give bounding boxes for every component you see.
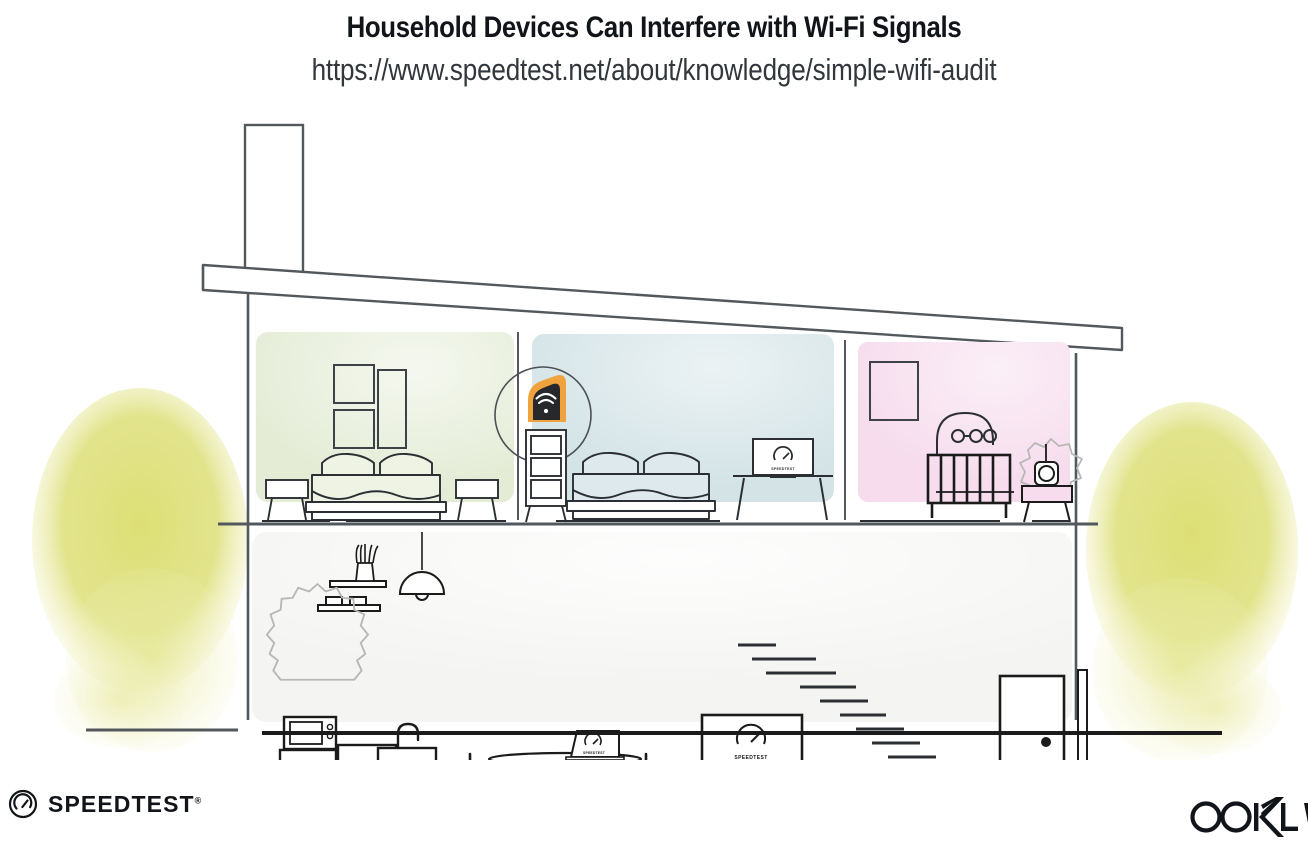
ookla-logo: ™: [1186, 793, 1308, 844]
ookla-k-glyph: [1254, 797, 1284, 837]
wall-shelf-upper: [330, 581, 386, 587]
footer: SPEEDTEST®: [0, 771, 1308, 861]
page-title: Household Devices Can Interfere with Wi-…: [92, 0, 1217, 45]
pillow-right: [644, 453, 699, 476]
bed-frame: [573, 511, 709, 519]
dresser: [526, 430, 566, 522]
window: [1078, 670, 1087, 760]
laptop-caption: SPEEDTEST: [583, 751, 606, 755]
monitor[interactable]: SPEEDTEST: [753, 439, 813, 478]
front-door[interactable]: [1000, 676, 1064, 760]
bed-frame: [312, 512, 440, 520]
speedtest-wordmark: SPEEDTEST®: [48, 791, 201, 818]
tree-right: [1086, 402, 1298, 760]
bed-base: [306, 502, 446, 512]
laptop[interactable]: SPEEDTEST: [566, 731, 624, 760]
registered-mark: ®: [195, 795, 202, 805]
speedtest-logo: SPEEDTEST®: [8, 789, 201, 819]
nursery-side-table: [1022, 486, 1072, 522]
wifi-dot-icon: [544, 409, 548, 413]
source-url: https://www.speedtest.net/about/knowledg…: [105, 45, 1204, 88]
speedtest-gauge-icon: [8, 789, 38, 819]
pillow-left: [583, 453, 638, 476]
ookla-la-glyph: [1281, 803, 1308, 831]
speedtest-wordmark-text: SPEEDTEST: [48, 791, 195, 817]
header: Household Devices Can Interfere with Wi-…: [0, 0, 1308, 89]
chimney: [245, 125, 303, 275]
counter-top-left: [280, 750, 336, 760]
faucet: [398, 724, 418, 748]
ookla-wordmark: ™: [1186, 793, 1308, 839]
bed-base: [567, 501, 715, 511]
pillow-left: [322, 454, 374, 477]
illustration-page: Household Devices Can Interfere with Wi-…: [0, 0, 1308, 861]
pillow-right: [380, 454, 432, 477]
monitor-caption: SPEEDTEST: [771, 467, 795, 471]
television[interactable]: SPEEDTEST: [702, 715, 802, 760]
house-illustration: SPEEDTEST: [0, 100, 1308, 760]
tv-caption: SPEEDTEST: [734, 755, 767, 760]
room-living-kitchen: [252, 532, 1072, 722]
counter-top-right: [378, 748, 436, 760]
laptop-base: [566, 757, 624, 760]
monitor-stand: [770, 475, 796, 478]
door-knob: [1041, 737, 1051, 747]
tree-left: [32, 388, 248, 752]
